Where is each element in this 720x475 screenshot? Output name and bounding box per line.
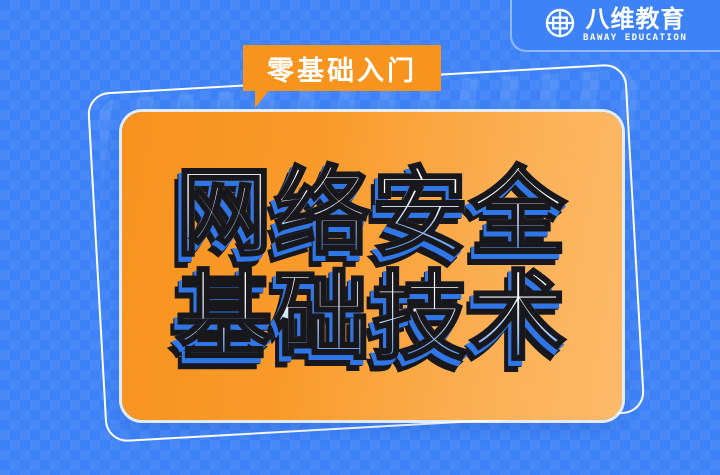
brand-logo-text: 八维教育 BAWAY EDUCATION [584, 7, 686, 43]
brand-name-cn: 八维教育 [586, 7, 686, 31]
badge-tail-pointer [255, 90, 269, 108]
zero-basis-badge: 零基础入门 [243, 45, 441, 91]
orange-title-card [122, 112, 622, 420]
globe-grid-icon [545, 8, 575, 43]
brand-logo-plate[interactable]: 八维教育 BAWAY EDUCATION [510, 0, 720, 52]
brand-name-en: BAWAY EDUCATION [583, 34, 687, 43]
zero-basis-badge-label: 零基础入门 [267, 49, 417, 88]
poster-canvas: 网络安全 基础技术 零基础入门 八维教育 BAWAY EDUCATION [0, 0, 720, 475]
